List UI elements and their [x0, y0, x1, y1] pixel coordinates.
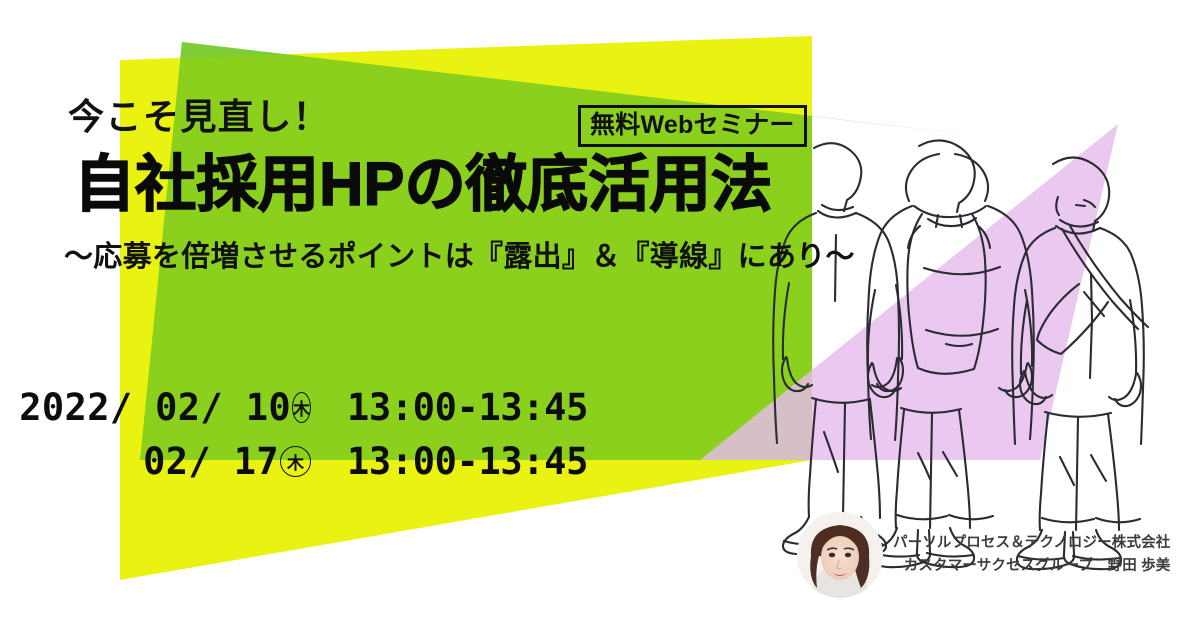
presenter-name: カスタマーサクセスグループ 野田 歩美 — [893, 555, 1170, 578]
webinar-banner: 今こそ見直し！ 自社採用HPの徹底活用法 〜応募を倍増させるポイントは『露出』＆… — [0, 0, 1200, 630]
presenter-block: パーソルプロセス＆テクノロジー株式会社 カスタマーサクセスグループ 野田 歩美 — [797, 512, 1170, 598]
schedule-date: 02/ 17 — [143, 440, 279, 483]
avatar-photo — [797, 512, 883, 598]
subtitle-text: 〜応募を倍増させるポイントは『露出』＆『導線』にあり〜 — [64, 243, 855, 272]
schedule-day-of-week: 木 — [292, 392, 311, 423]
page-title: 自社採用HPの徹底活用法 — [74, 154, 772, 215]
avatar — [797, 512, 883, 598]
schedule-row: 2022/ 02/ 10 木 13:00-13:45 — [118, 380, 588, 434]
schedule-list: 2022/ 02/ 10 木 13:00-13:45 02/ 17 木 13:0… — [118, 380, 588, 488]
schedule-day-of-week: 木 — [280, 446, 311, 477]
presenter-company: パーソルプロセス＆テクノロジー株式会社 — [893, 532, 1170, 555]
schedule-row: 02/ 17 木 13:00-13:45 — [118, 434, 588, 488]
schedule-time: 13:00-13:45 — [347, 440, 588, 483]
text-layer: 今こそ見直し！ 自社採用HPの徹底活用法 〜応募を倍増させるポイントは『露出』＆… — [0, 0, 1200, 630]
schedule-date: 2022/ 02/ 10 — [19, 386, 291, 429]
schedule-time: 13:00-13:45 — [347, 386, 588, 429]
free-webinar-badge-label: 無料Webセミナー — [590, 111, 795, 139]
presenter-text: パーソルプロセス＆テクノロジー株式会社 カスタマーサクセスグループ 野田 歩美 — [893, 532, 1170, 579]
free-webinar-badge: 無料Webセミナー — [578, 105, 807, 147]
kicker-text: 今こそ見直し！ — [68, 99, 330, 135]
